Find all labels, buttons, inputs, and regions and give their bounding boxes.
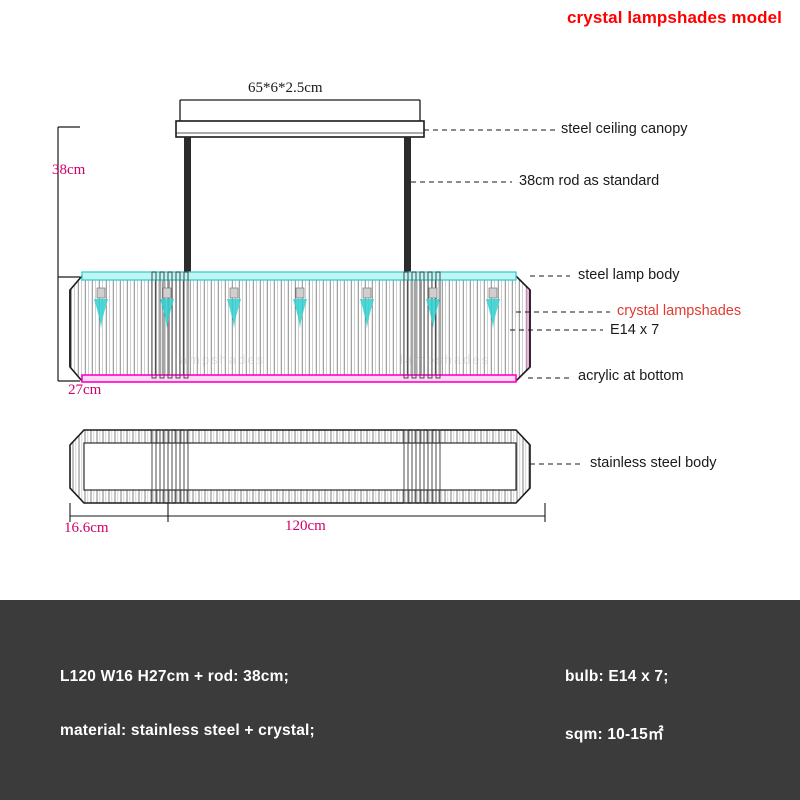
watermark-text-2: lampshades: [400, 352, 490, 367]
spec-bulb: bulb: E14 x 7;: [565, 668, 669, 686]
ceiling-canopy: [176, 121, 424, 137]
watermark-text: lampshades: [175, 352, 265, 367]
callout-steel-lamp-body: steel lamp body: [578, 267, 680, 283]
dimension-rod-height: 38cm: [52, 162, 85, 179]
suspension-rods: [184, 137, 411, 277]
callout-rod-standard: 38cm rod as standard: [519, 173, 659, 189]
callout-acrylic-bottom: acrylic at bottom: [578, 368, 684, 384]
dimension-body-height: 27cm: [68, 382, 101, 399]
callout-crystal-lampshades: crystal lampshades: [617, 303, 741, 319]
lamp-body-top-view: [70, 430, 530, 503]
top-dimension-line: [180, 100, 420, 122]
dimension-top-bar: 65*6*2.5cm: [248, 80, 323, 97]
spec-size: L120 W16 H27cm + rod: 38cm;: [60, 668, 289, 686]
rod-height-dimension: [58, 127, 80, 277]
callout-stainless-steel-body: stainless steel body: [590, 455, 717, 471]
dimension-total-length: 120cm: [285, 518, 326, 535]
dimension-end-width: 16.6cm: [64, 520, 109, 537]
callout-steel-ceiling-canopy: steel ceiling canopy: [561, 121, 688, 137]
spec-panel: L120 W16 H27cm + rod: 38cm; bulb: E14 x …: [0, 600, 800, 800]
spec-sqm: sqm: 10-15㎡: [565, 722, 664, 744]
callout-e14: E14 x 7: [610, 322, 659, 338]
spec-material: material: stainless steel + crystal;: [60, 722, 315, 740]
